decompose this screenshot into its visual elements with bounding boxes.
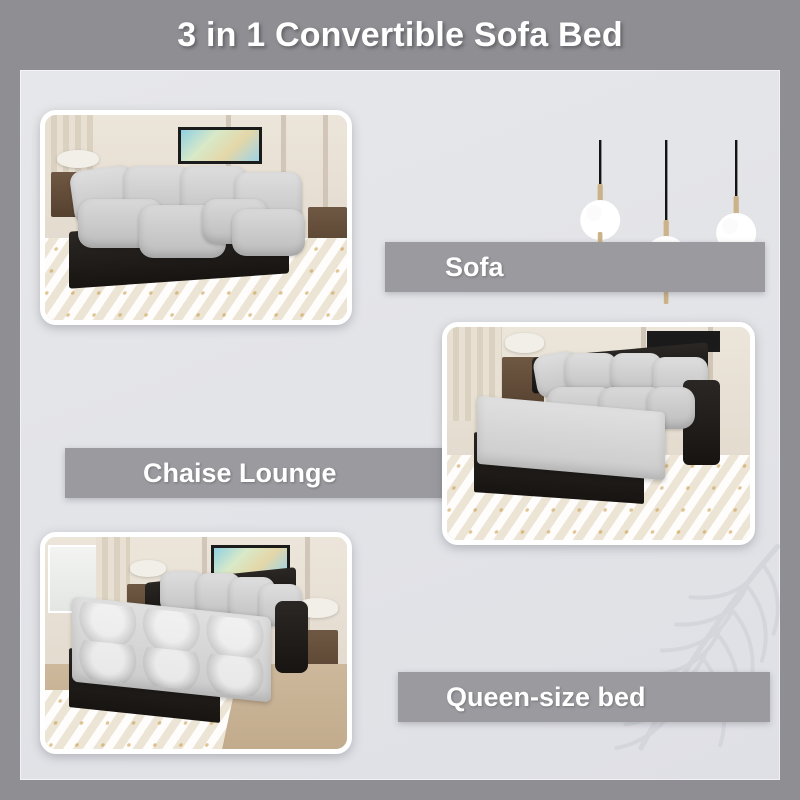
table-lamp (130, 560, 166, 577)
page-title: 3 in 1 Convertible Sofa Bed (0, 16, 800, 55)
palm-leaf-watermark (550, 540, 780, 780)
table-lamp (57, 150, 99, 168)
feature-label-queen-size-bed: Queen-size bed (398, 682, 646, 713)
sofa-scene (45, 115, 347, 320)
feature-label-chaise-lounge: Chaise Lounge (65, 458, 337, 489)
table-lamp (505, 333, 544, 352)
product-photo-queen-size-bed (40, 532, 352, 754)
sofa-backrest (565, 353, 617, 391)
pendant-lamps-graphic (555, 140, 780, 335)
bed-armrest (275, 601, 308, 673)
framed-artwork (178, 127, 263, 164)
sofa-seat-cushion (232, 209, 304, 256)
product-photo-chaise-lounge (442, 322, 755, 545)
feature-banner-sofa: Sofa (385, 242, 765, 292)
feature-banner-chaise-lounge: Chaise Lounge (65, 448, 465, 498)
mattress-tufting (76, 601, 267, 698)
feature-banner-queen-size-bed: Queen-size bed (398, 672, 770, 722)
queen-bed-scene (45, 537, 347, 749)
chaise-scene (447, 327, 750, 540)
product-photo-sofa (40, 110, 352, 325)
infographic-root: 3 in 1 Convertible Sofa Bed (0, 0, 800, 800)
feature-label-sofa: Sofa (385, 252, 504, 283)
